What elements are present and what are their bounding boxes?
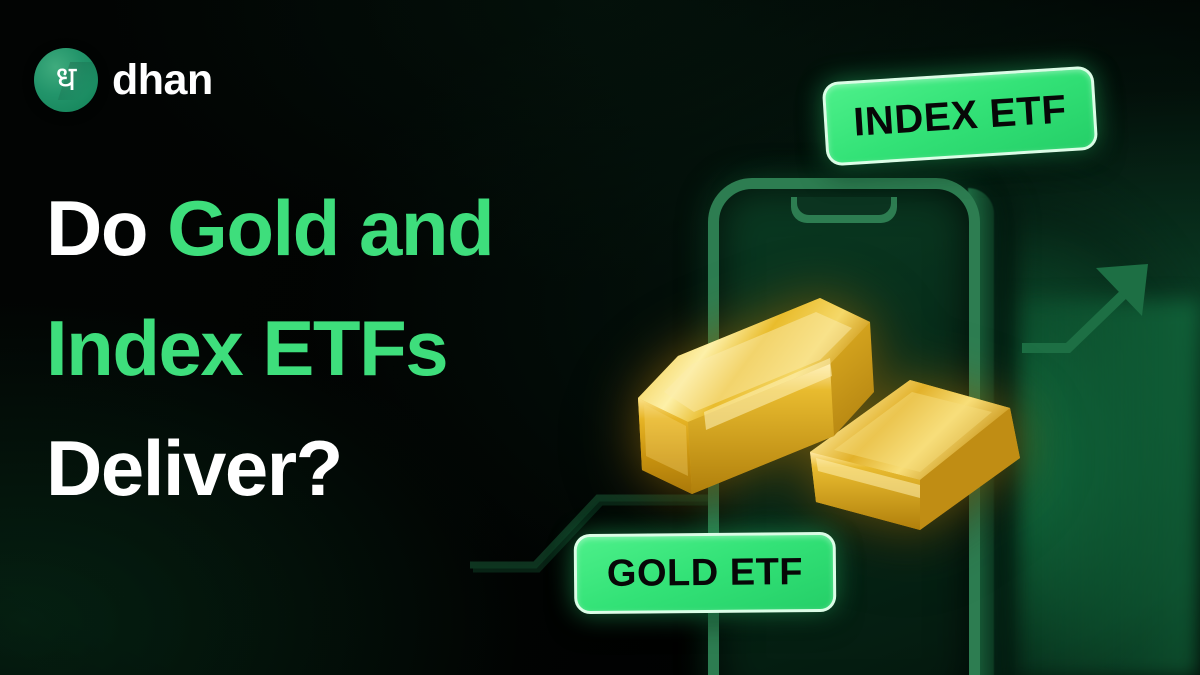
- headline-line-3: Deliver?: [46, 408, 686, 528]
- badge-index-etf[interactable]: INDEX ETF: [822, 66, 1099, 167]
- headline-line-2: Index ETFs: [46, 288, 686, 408]
- trending-up-arrow-icon: [1020, 250, 1180, 380]
- devanagari-dha-glyph: ध: [56, 62, 77, 96]
- badge-index-etf-label: INDEX ETF: [852, 89, 1067, 142]
- promo-banner: ध dhan Do Gold and Index ETFs Deliver? I…: [0, 0, 1200, 675]
- badge-gold-etf-label: GOLD ETF: [607, 553, 803, 593]
- headline-line-1-green: Gold and: [167, 184, 493, 272]
- phone-notch: [791, 197, 897, 223]
- badge-gold-etf[interactable]: GOLD ETF: [574, 532, 837, 614]
- headline-line-1-white: Do: [46, 184, 167, 272]
- dhan-logo-mark-icon: ध: [34, 48, 98, 112]
- headline-line-1: Do Gold and: [46, 168, 686, 288]
- phone-notch-inner: [797, 197, 891, 215]
- dhan-wordmark: dhan: [112, 59, 213, 102]
- page-title: Do Gold and Index ETFs Deliver?: [46, 168, 686, 528]
- dhan-logo[interactable]: ध dhan: [34, 48, 213, 112]
